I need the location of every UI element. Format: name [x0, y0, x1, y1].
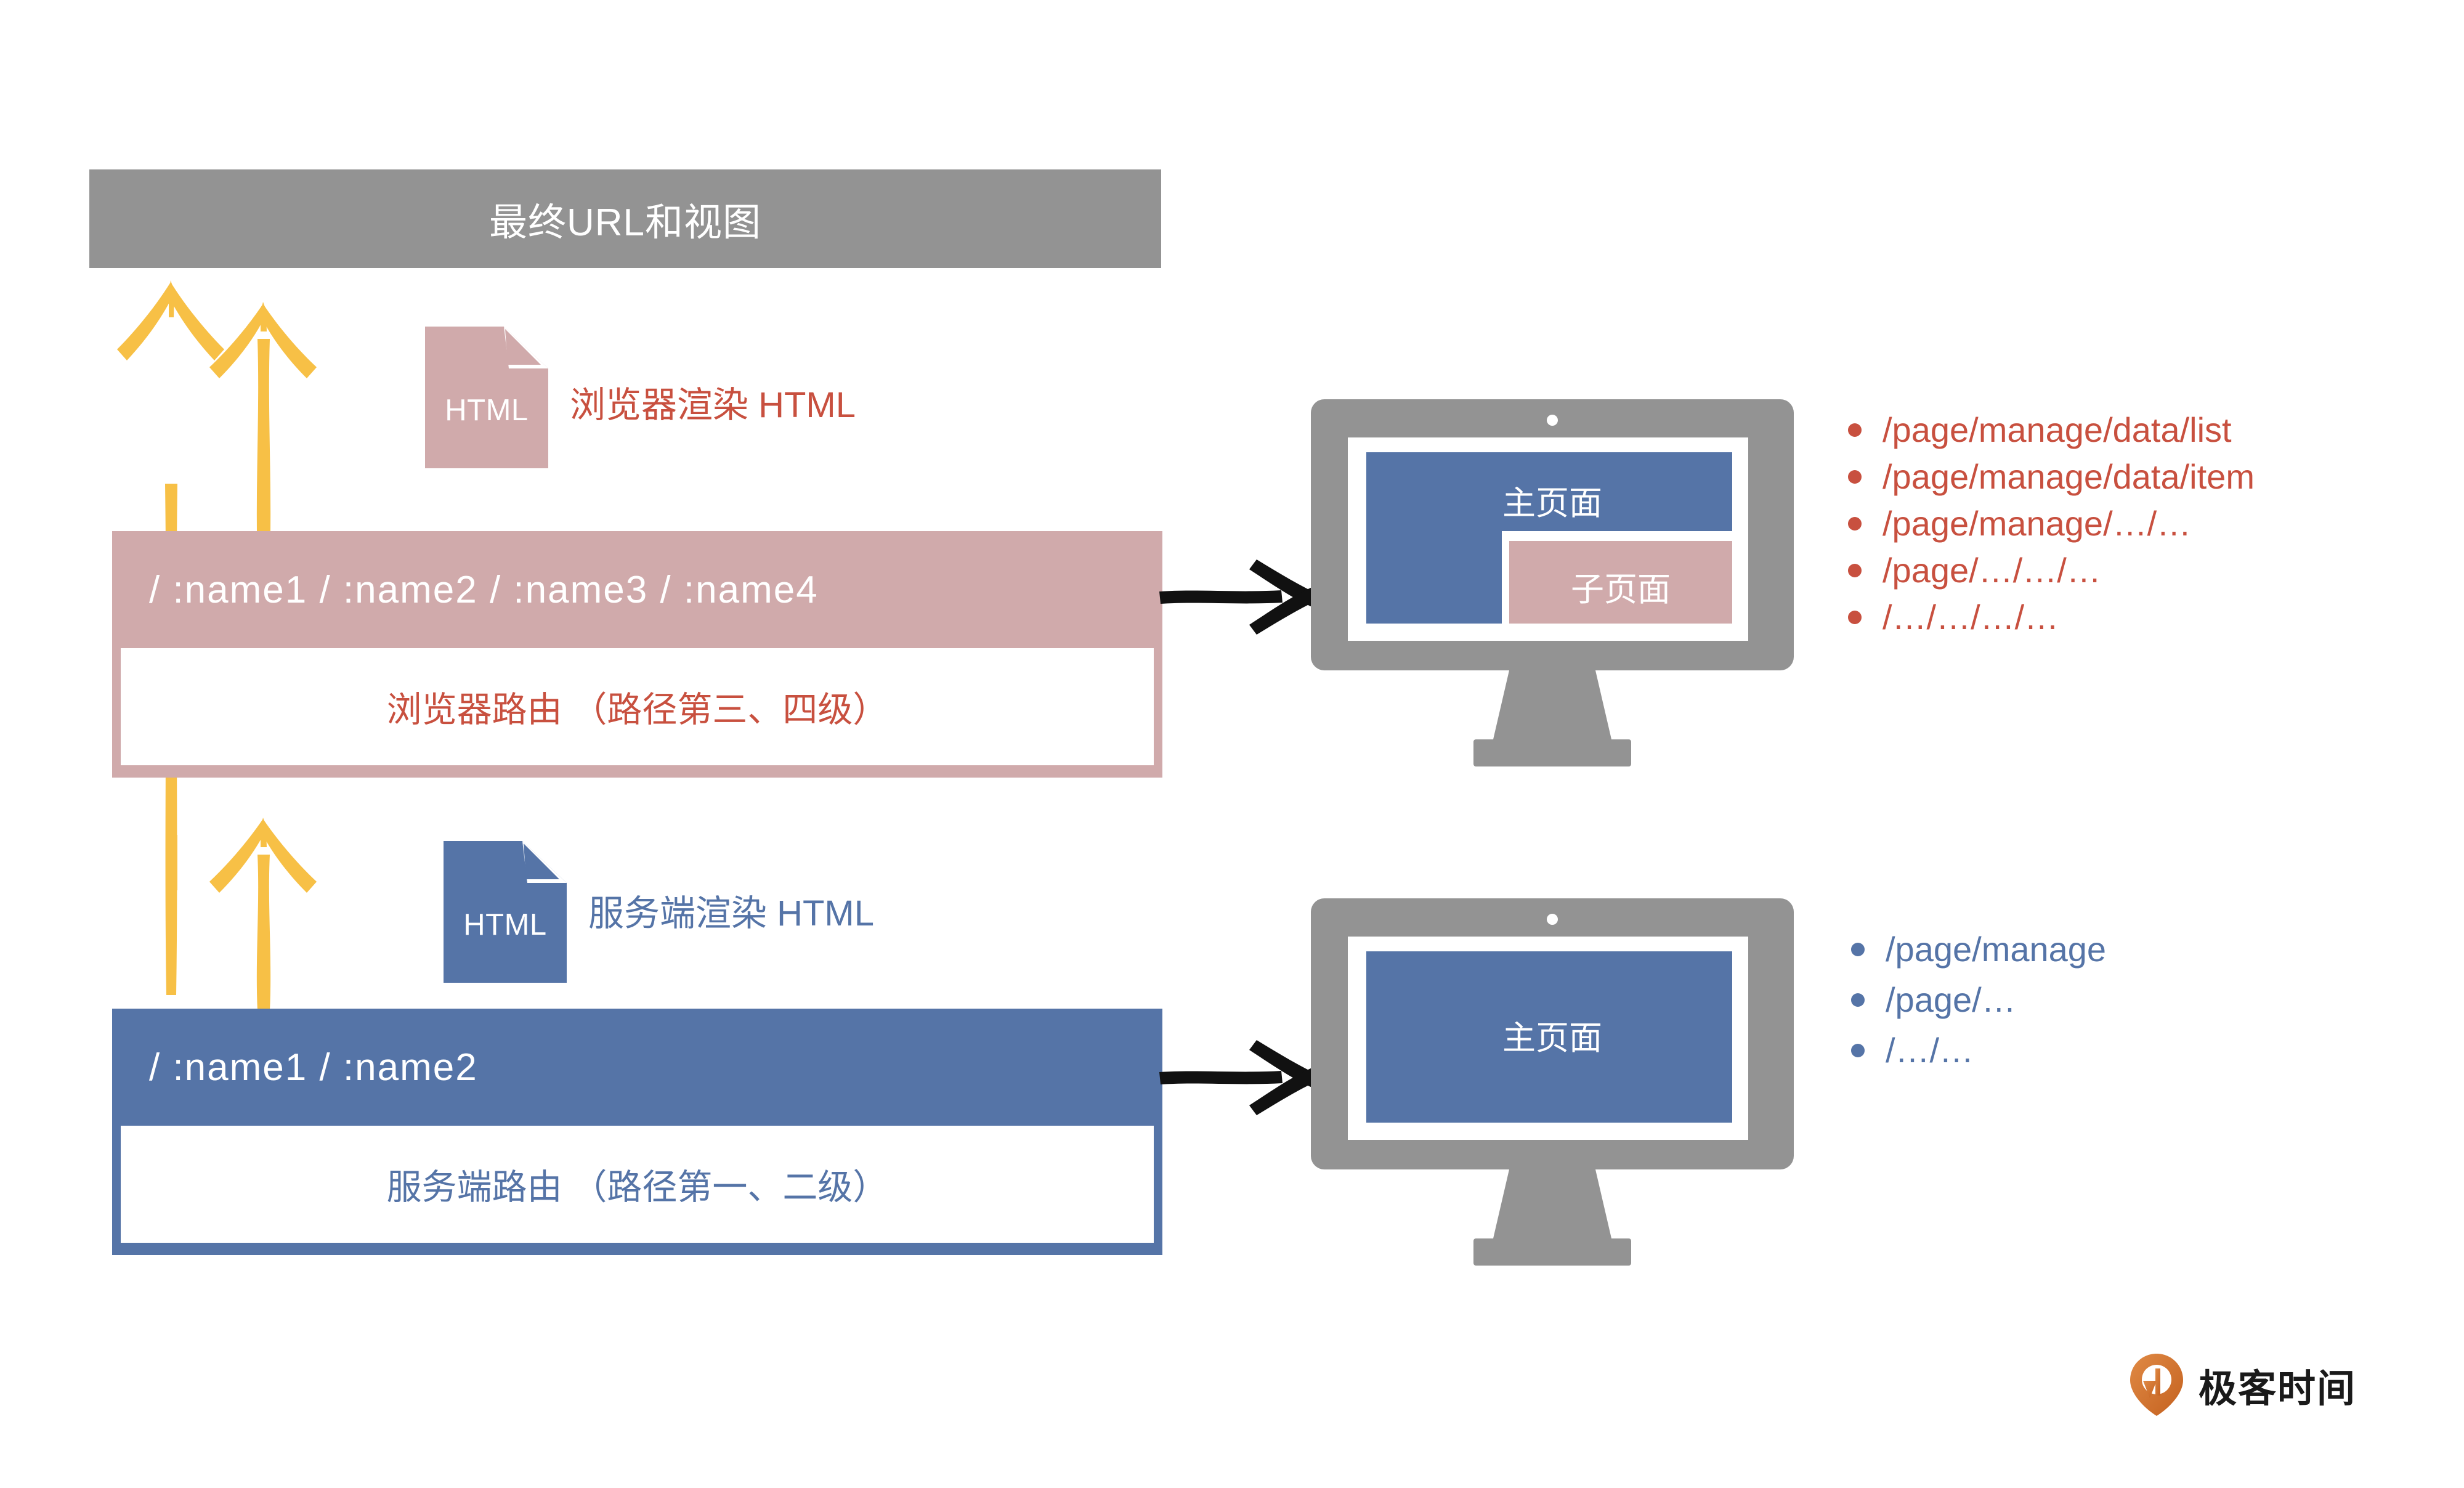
bullet-icon [1848, 611, 1862, 624]
browser-route-note-row: 浏览器路由 （路径第三、四级） [121, 648, 1154, 765]
yellow-arrow-server-to-browser-route [203, 816, 326, 1014]
bullet-icon [1851, 943, 1865, 956]
list-item: /page/manage [1851, 924, 2106, 975]
server-url-0: /page/manage [1886, 932, 2106, 967]
geektime-pin-icon [2128, 1352, 2185, 1417]
bullet-icon [1848, 470, 1862, 484]
client-url-list: /page/manage/data/list /page/manage/data… [1848, 407, 2255, 641]
browser-route-box: / :name1 / :name2 / :name3 / :name4 浏览器路… [112, 531, 1162, 778]
client-url-0: /page/manage/data/list [1882, 413, 2232, 447]
yellow-arrow-browser-route-to-top [203, 302, 326, 564]
bullet-icon [1851, 993, 1865, 1007]
html-file-label-pink: HTML [425, 393, 548, 428]
browser-route-path: / :name1 / :name2 / :name3 / :name4 [149, 568, 819, 612]
list-item: /page/manage/data/item [1848, 453, 2255, 500]
list-item: /page/manage/…/… [1848, 500, 2255, 547]
final-url-and-view-banner: 最终URL和视图 [89, 169, 1161, 268]
server-render-html-caption: 服务端渲染 HTML [588, 884, 874, 936]
list-item: /…/… [1851, 1025, 2106, 1076]
client-url-3: /page/…/…/… [1882, 553, 2101, 588]
server-route-note: 服务端路由 （路径第一、二级） [387, 1159, 888, 1210]
arrow-browser-route-to-monitor [1158, 555, 1331, 641]
server-route-box: / :name1 / :name2 服务端路由 （路径第一、二级） [112, 1009, 1162, 1255]
monitor-sub-page-label-client: 子页面 [1509, 562, 1732, 611]
list-item: /page/… [1851, 975, 2106, 1025]
bullet-icon [1848, 564, 1862, 577]
bullet-icon [1848, 423, 1862, 437]
bullet-icon [1848, 517, 1862, 531]
bullet-icon [1851, 1044, 1865, 1057]
server-url-2: /…/… [1886, 1033, 1974, 1068]
server-url-list: /page/manage /page/… /…/… [1851, 924, 2106, 1076]
client-url-4: /…/…/…/… [1882, 600, 2059, 635]
browser-route-path-row: / :name1 / :name2 / :name3 / :name4 [112, 531, 1162, 648]
list-item: /page/manage/data/list [1848, 407, 2255, 453]
brand-logo: 极客时间 [2128, 1352, 2356, 1417]
client-url-1: /page/manage/data/item [1882, 460, 2255, 494]
server-route-note-row: 服务端路由 （路径第一、二级） [121, 1126, 1154, 1243]
monitor-server-rendered [1306, 893, 1799, 1275]
arrow-server-route-to-monitor [1158, 1035, 1331, 1121]
server-url-1: /page/… [1886, 983, 2016, 1017]
monitor-main-page-label-client: 主页面 [1306, 476, 1799, 524]
diagram-canvas: 最终URL和视图 [0, 0, 2464, 1488]
browser-render-html-caption: 浏览器渲染 HTML [570, 376, 856, 428]
client-url-2: /page/manage/…/… [1882, 506, 2191, 541]
html-file-label-blue: HTML [444, 908, 567, 942]
banner-title: 最终URL和视图 [489, 191, 761, 246]
server-route-path: / :name1 / :name2 [149, 1046, 478, 1089]
brand-name: 极客时间 [2199, 1357, 2356, 1413]
browser-route-note: 浏览器路由 （路径第三、四级） [387, 681, 888, 732]
monitor-main-page-label-server: 主页面 [1306, 1010, 1799, 1059]
list-item: /…/…/…/… [1848, 594, 2255, 641]
list-item: /page/…/…/… [1848, 547, 2255, 594]
server-route-path-row: / :name1 / :name2 [112, 1009, 1162, 1126]
